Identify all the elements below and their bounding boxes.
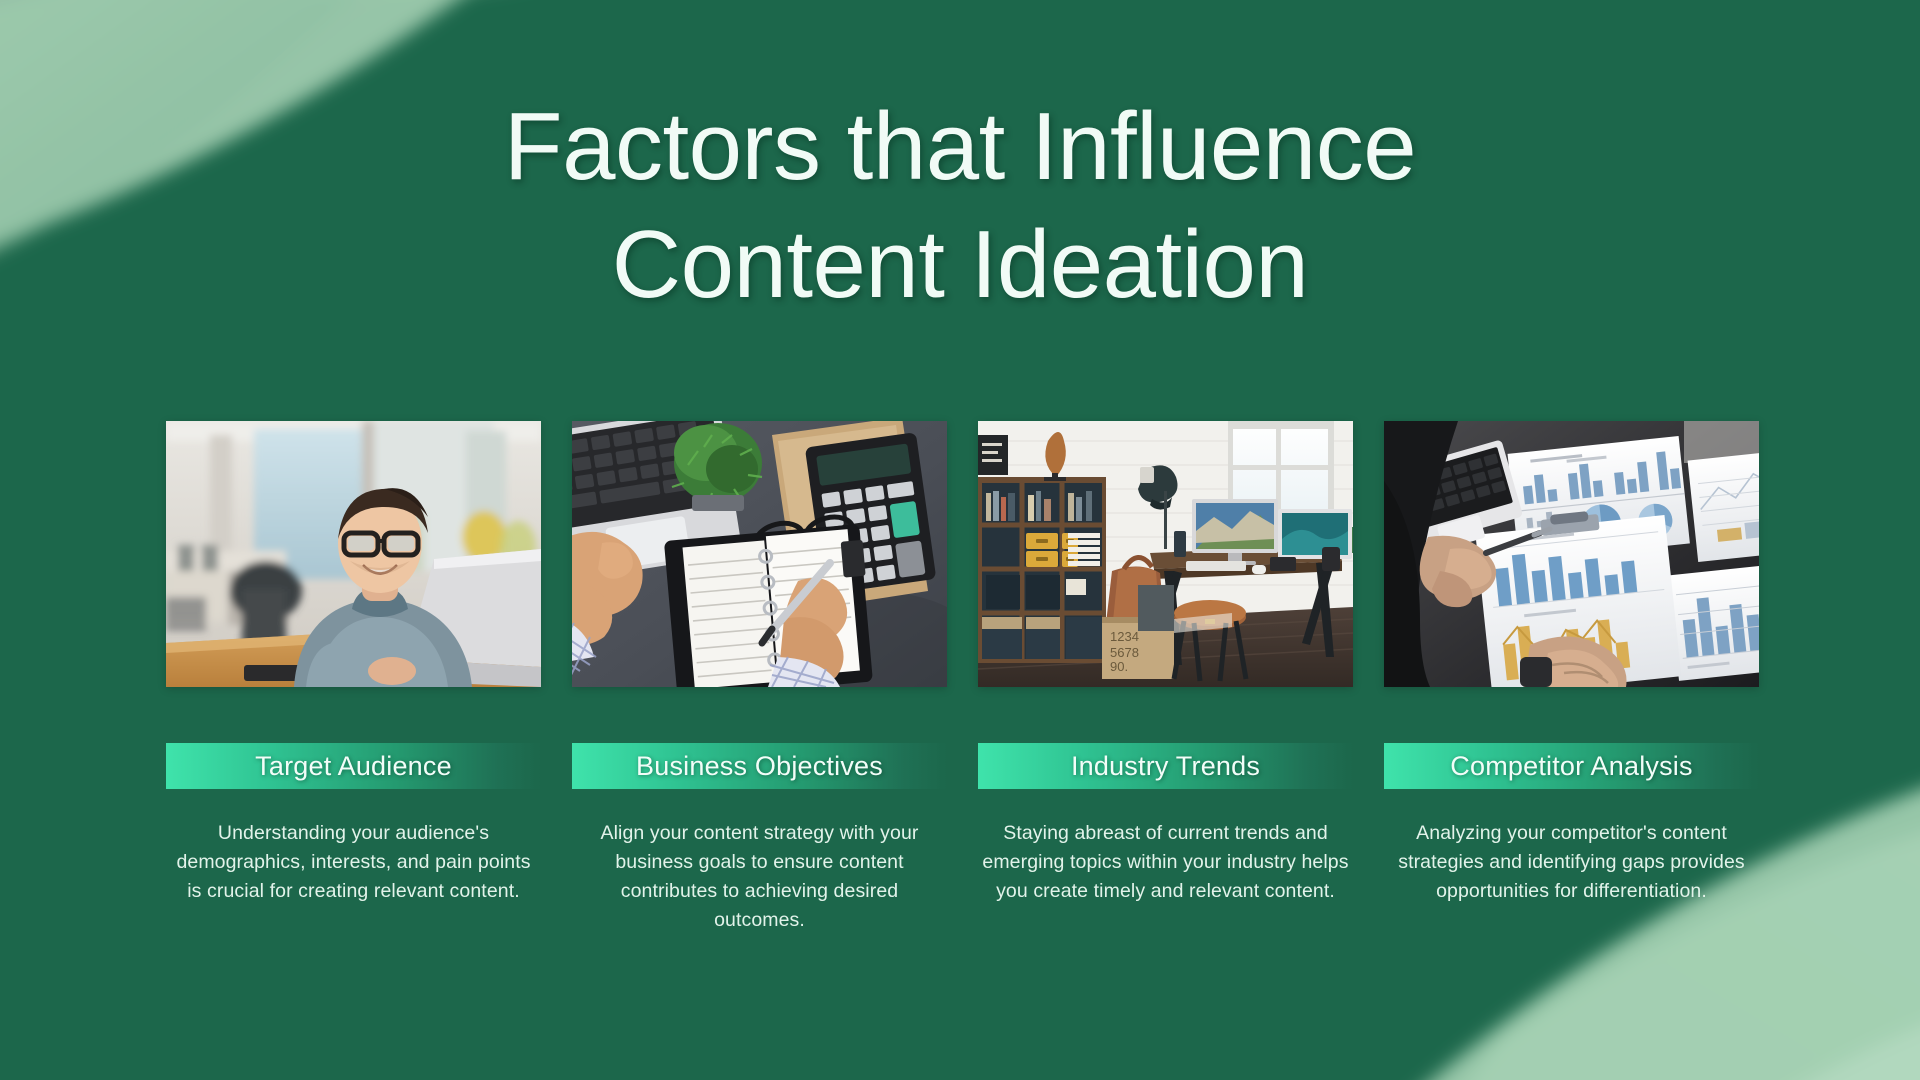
card-target-audience[interactable]: Target Audience Understanding your audie… (166, 421, 541, 935)
card-description-competitor-analysis: Analyzing your competitor's content stra… (1384, 819, 1759, 906)
card-description-industry-trends: Staying abreast of current trends and em… (978, 819, 1353, 906)
svg-text:5678: 5678 (1110, 645, 1139, 660)
card-image-target-audience (166, 421, 541, 687)
card-label-target-audience: Target Audience (166, 743, 541, 789)
title-line-1: Factors that Influence (0, 88, 1920, 206)
card-label-industry-trends: Industry Trends (978, 743, 1353, 789)
card-image-business-objectives (572, 421, 947, 687)
card-description-business-objectives: Align your content strategy with your bu… (572, 819, 947, 935)
cards-row: Target Audience Understanding your audie… (166, 421, 1774, 935)
card-competitor-analysis[interactable]: Competitor Analysis Analyzing your compe… (1384, 421, 1759, 935)
card-image-competitor-analysis (1384, 421, 1759, 687)
card-label-business-objectives: Business Objectives (572, 743, 947, 789)
card-image-industry-trends: 1234567890. (978, 421, 1353, 687)
card-description-target-audience: Understanding your audience's demographi… (166, 819, 541, 906)
card-industry-trends[interactable]: 1234567890. Industry Trends Staying abre… (978, 421, 1353, 935)
card-label-competitor-analysis: Competitor Analysis (1384, 743, 1759, 789)
svg-text:90.: 90. (1110, 659, 1128, 674)
svg-text:1234: 1234 (1110, 629, 1139, 644)
slide-title: Factors that Influence Content Ideation (0, 88, 1920, 324)
title-line-2: Content Ideation (0, 206, 1920, 324)
card-business-objectives[interactable]: Business Objectives Align your content s… (572, 421, 947, 935)
